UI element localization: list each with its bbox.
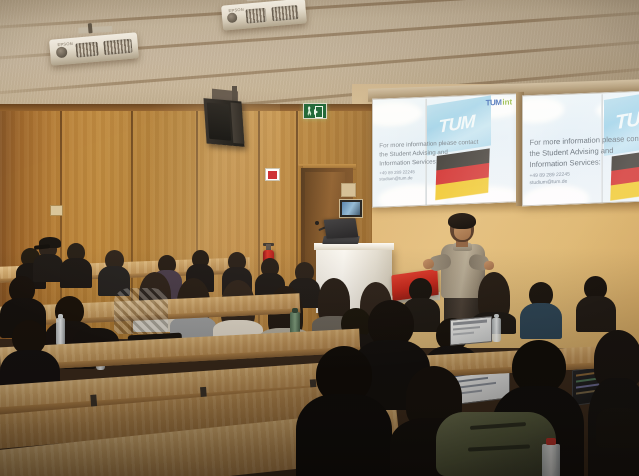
- fire-equipment-sign-icon: [265, 168, 280, 181]
- presenter-laptop-lid: [324, 218, 359, 239]
- speaker-grille: [207, 102, 231, 140]
- light-switch[interactable]: [50, 205, 63, 216]
- lecture-hall-photo: EPSON EPSON: [0, 0, 639, 476]
- student-laptop: [450, 316, 490, 343]
- water-bottle: [492, 318, 501, 342]
- screen-frame: [522, 91, 639, 207]
- audience-person: [60, 243, 92, 287]
- projector-vent: [245, 7, 266, 23]
- projector-arm: [88, 23, 93, 33]
- projector-vent: [103, 38, 132, 55]
- bottle-cap: [58, 314, 63, 319]
- wall-panel: [341, 183, 356, 197]
- audience-person: [520, 282, 562, 338]
- person-shoulders: [60, 258, 92, 288]
- presenter-right-hand: [484, 261, 494, 270]
- projector-lens: [227, 12, 238, 23]
- person-shoulders: [520, 303, 562, 339]
- lectern-top: [314, 243, 394, 250]
- bottle-cap: [292, 308, 298, 313]
- right-projection-screen: TUM For more information please contact …: [522, 91, 639, 207]
- black-bag: [596, 408, 639, 448]
- water-bottle-foreground: [542, 444, 560, 476]
- screen-frame: [372, 93, 518, 208]
- audience-person-foreground: [296, 346, 392, 476]
- projector-vent: [75, 41, 98, 57]
- person-shoulders: [296, 394, 392, 476]
- microphone-icon: [315, 221, 319, 225]
- person-shoulders: [576, 296, 616, 332]
- presenter-hair: [448, 213, 476, 229]
- projector-vent: [271, 5, 298, 21]
- exit-door-glyph: [315, 106, 323, 118]
- running-man-glyph: [307, 106, 312, 116]
- audience-person-foreground: [588, 330, 639, 476]
- emergency-exit-icon: [303, 103, 327, 119]
- green-backpack: [436, 412, 556, 476]
- patterned-jacket: [114, 288, 168, 334]
- left-projection-screen: TUM For more information please contact …: [372, 93, 518, 208]
- ceiling-speaker-icon: [203, 98, 244, 147]
- cap-brim: [34, 244, 50, 250]
- audience-person: [98, 250, 130, 294]
- wall-control-monitor[interactable]: [339, 199, 363, 218]
- bottle-cap-red: [546, 438, 556, 445]
- audience-person: [576, 276, 616, 332]
- bottle-cap: [494, 314, 499, 318]
